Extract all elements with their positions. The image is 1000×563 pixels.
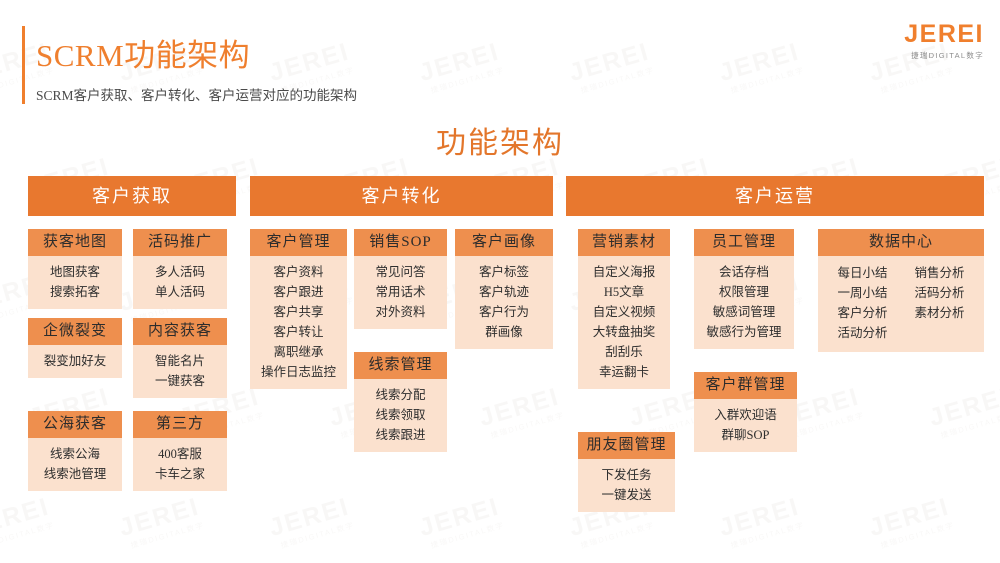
card-body-public-sea: 线索公海线索池管理 — [28, 438, 122, 491]
card-item[interactable]: 操作日志监控 — [250, 362, 347, 382]
card-item[interactable]: 每日小结 — [826, 263, 899, 283]
card-title-sales-sop[interactable]: 销售SOP — [354, 229, 447, 256]
card-item[interactable]: H5文章 — [578, 282, 670, 302]
card-body-data-center: 每日小结销售分析一周小结活码分析客户分析素材分析活动分析 — [818, 256, 984, 352]
card-item[interactable]: 线索领取 — [354, 405, 447, 425]
card-item[interactable]: 多人活码 — [133, 262, 227, 282]
page-title: SCRM功能架构 — [36, 30, 250, 75]
card-item[interactable]: 线索跟进 — [354, 425, 447, 445]
card-item[interactable]: 一周小结 — [826, 283, 899, 303]
card-sales-sop: 销售SOP常见问答常用话术对外资料 — [354, 229, 447, 329]
card-item[interactable]: 大转盘抽奖 — [578, 322, 670, 342]
card-item[interactable]: 客户跟进 — [250, 282, 347, 302]
card-item[interactable]: 400客服 — [133, 444, 227, 464]
card-title-group-management[interactable]: 客户群管理 — [694, 372, 797, 399]
card-title-customer-profile[interactable]: 客户画像 — [455, 229, 553, 256]
card-item[interactable]: 活动分析 — [826, 323, 899, 343]
card-wecom-fission: 企微裂变裂变加好友 — [28, 318, 122, 378]
card-body-lead-management: 线索分配线索领取线索跟进 — [354, 379, 447, 452]
card-item[interactable]: 下发任务 — [578, 465, 675, 485]
brand-logo: JEREI 捷瑞DIGITAL数字 — [904, 22, 984, 61]
slide-canvas: JEREI捷瑞DIGITAL数字JEREI捷瑞DIGITAL数字JEREI捷瑞D… — [0, 0, 1000, 563]
card-item[interactable]: 裂变加好友 — [28, 351, 122, 371]
card-item[interactable]: 客户标签 — [455, 262, 553, 282]
card-item[interactable]: 自定义海报 — [578, 262, 670, 282]
card-title-live-code-promo[interactable]: 活码推广 — [133, 229, 227, 256]
pillar-label: 客户转化 — [362, 186, 442, 206]
card-body-third-party: 400客服卡车之家 — [133, 438, 227, 491]
card-item[interactable]: 离职继承 — [250, 342, 347, 362]
card-item[interactable]: 卡车之家 — [133, 464, 227, 484]
card-body-content-acquisition: 智能名片一键获客 — [133, 345, 227, 398]
card-item[interactable]: 群聊SOP — [694, 425, 797, 445]
card-item[interactable]: 客户分析 — [826, 303, 899, 323]
card-item[interactable]: 搜索拓客 — [28, 282, 122, 302]
pillar-label: 客户运营 — [735, 186, 815, 206]
page-subtitle: SCRM客户获取、客户转化、客户运营对应的功能架构 — [36, 84, 357, 104]
card-live-code-promo: 活码推广多人活码单人活码 — [133, 229, 227, 309]
card-item[interactable]: 线索分配 — [354, 385, 447, 405]
card-data-center: 数据中心每日小结销售分析一周小结活码分析客户分析素材分析活动分析 — [818, 229, 984, 352]
card-item[interactable]: 客户共享 — [250, 302, 347, 322]
pillar-header-customer-acquisition[interactable]: 客户获取 — [28, 176, 236, 216]
card-item[interactable]: 单人活码 — [133, 282, 227, 302]
card-item[interactable]: 权限管理 — [694, 282, 794, 302]
card-title-moments-management[interactable]: 朋友圈管理 — [578, 432, 675, 459]
card-item[interactable]: 销售分析 — [903, 263, 976, 283]
card-item[interactable]: 对外资料 — [354, 302, 447, 322]
card-item[interactable]: 活码分析 — [903, 283, 976, 303]
card-body-wecom-fission: 裂变加好友 — [28, 345, 122, 378]
diagram-title: 功能架构 — [0, 118, 1000, 162]
card-title-public-sea[interactable]: 公海获客 — [28, 411, 122, 438]
card-acquisition-map: 获客地图地图获客搜索拓客 — [28, 229, 122, 309]
card-title-staff-management[interactable]: 员工管理 — [694, 229, 794, 256]
card-item[interactable]: 入群欢迎语 — [694, 405, 797, 425]
card-moments-management: 朋友圈管理下发任务一键发送 — [578, 432, 675, 512]
card-item[interactable]: 客户行为 — [455, 302, 553, 322]
card-item[interactable]: 线索公海 — [28, 444, 122, 464]
card-item[interactable]: 群画像 — [455, 322, 553, 342]
card-item[interactable]: 客户轨迹 — [455, 282, 553, 302]
card-item[interactable]: 自定义视频 — [578, 302, 670, 322]
brand-logo-mark: JEREI — [904, 22, 984, 47]
pillar-label: 客户获取 — [92, 186, 172, 206]
card-title-lead-management[interactable]: 线索管理 — [354, 352, 447, 379]
card-item[interactable]: 刮刮乐 — [578, 342, 670, 362]
card-body-group-management: 入群欢迎语群聊SOP — [694, 399, 797, 452]
card-item[interactable]: 常用话术 — [354, 282, 447, 302]
card-item[interactable]: 敏感行为管理 — [694, 322, 794, 342]
card-item[interactable]: 常见问答 — [354, 262, 447, 282]
card-item[interactable]: 一键发送 — [578, 485, 675, 505]
card-title-content-acquisition[interactable]: 内容获客 — [133, 318, 227, 345]
card-title-marketing-material[interactable]: 营销素材 — [578, 229, 670, 256]
pillar-header-customer-operation[interactable]: 客户运营 — [566, 176, 984, 216]
card-body-sales-sop: 常见问答常用话术对外资料 — [354, 256, 447, 329]
card-body-marketing-material: 自定义海报H5文章自定义视频大转盘抽奖刮刮乐幸运翻卡 — [578, 256, 670, 389]
card-body-moments-management: 下发任务一键发送 — [578, 459, 675, 512]
card-body-acquisition-map: 地图获客搜索拓客 — [28, 256, 122, 309]
card-title-wecom-fission[interactable]: 企微裂变 — [28, 318, 122, 345]
title-accent-bar — [22, 26, 25, 104]
pillar-header-customer-conversion[interactable]: 客户转化 — [250, 176, 553, 216]
card-title-acquisition-map[interactable]: 获客地图 — [28, 229, 122, 256]
card-group-management: 客户群管理入群欢迎语群聊SOP — [694, 372, 797, 452]
card-item[interactable]: 线索池管理 — [28, 464, 122, 484]
brand-logo-subtitle: 捷瑞DIGITAL数字 — [904, 50, 984, 61]
card-third-party: 第三方400客服卡车之家 — [133, 411, 227, 491]
card-lead-management: 线索管理线索分配线索领取线索跟进 — [354, 352, 447, 452]
card-public-sea: 公海获客线索公海线索池管理 — [28, 411, 122, 491]
card-item[interactable]: 地图获客 — [28, 262, 122, 282]
card-item[interactable]: 会话存档 — [694, 262, 794, 282]
card-body-live-code-promo: 多人活码单人活码 — [133, 256, 227, 309]
card-customer-management: 客户管理客户资料客户跟进客户共享客户转让离职继承操作日志监控 — [250, 229, 347, 389]
card-item[interactable]: 素材分析 — [903, 303, 976, 323]
card-item[interactable]: 客户资料 — [250, 262, 347, 282]
card-title-data-center[interactable]: 数据中心 — [818, 229, 984, 256]
card-title-third-party[interactable]: 第三方 — [133, 411, 227, 438]
card-content-acquisition: 内容获客智能名片一键获客 — [133, 318, 227, 398]
card-body-staff-management: 会话存档权限管理敏感词管理敏感行为管理 — [694, 256, 794, 349]
card-item[interactable]: 客户转让 — [250, 322, 347, 342]
card-item[interactable]: 一键获客 — [133, 371, 227, 391]
card-body-customer-management: 客户资料客户跟进客户共享客户转让离职继承操作日志监控 — [250, 256, 347, 389]
card-item[interactable]: 敏感词管理 — [694, 302, 794, 322]
card-marketing-material: 营销素材自定义海报H5文章自定义视频大转盘抽奖刮刮乐幸运翻卡 — [578, 229, 670, 389]
card-customer-profile: 客户画像客户标签客户轨迹客户行为群画像 — [455, 229, 553, 349]
card-body-customer-profile: 客户标签客户轨迹客户行为群画像 — [455, 256, 553, 349]
card-item[interactable]: 幸运翻卡 — [578, 362, 670, 382]
card-staff-management: 员工管理会话存档权限管理敏感词管理敏感行为管理 — [694, 229, 794, 349]
card-title-customer-management[interactable]: 客户管理 — [250, 229, 347, 256]
slide-header: SCRM功能架构 SCRM客户获取、客户转化、客户运营对应的功能架构 — [0, 0, 1000, 118]
card-item[interactable]: 智能名片 — [133, 351, 227, 371]
